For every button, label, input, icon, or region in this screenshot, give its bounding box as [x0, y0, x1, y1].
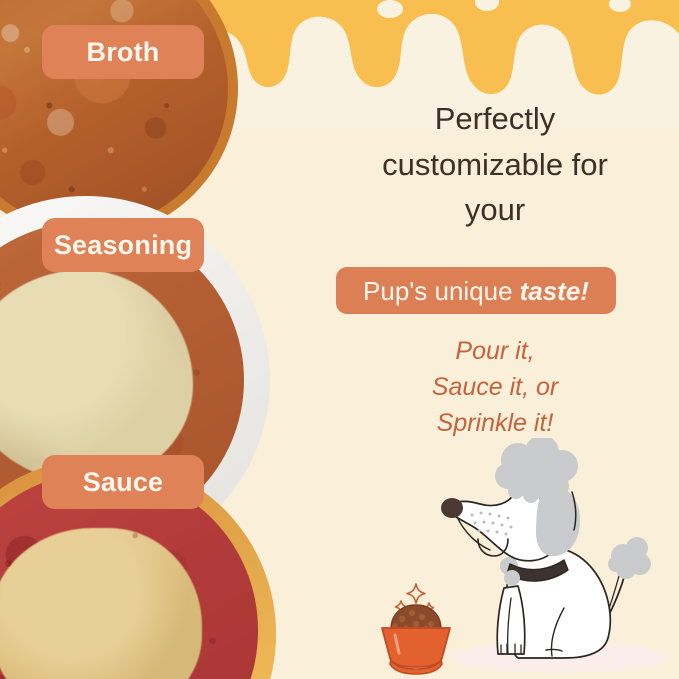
- dog-food-bowl: [382, 584, 450, 674]
- taste-pill-prefix: Pup's unique: [363, 278, 513, 304]
- headline-line-2: customizable for: [340, 142, 650, 188]
- subline-line-3: Sprinkle it!: [355, 405, 635, 441]
- subline-line-2: Sauce it, or: [355, 369, 635, 405]
- taste-pill-emphasis: taste!: [520, 278, 589, 304]
- poodle-dog: [441, 438, 651, 658]
- poodle-illustration: [368, 438, 679, 679]
- poodle-nose-icon: [441, 498, 463, 518]
- label-pill-sauce: Sauce: [42, 455, 204, 509]
- subline: Pour it, Sauce it, or Sprinkle it!: [355, 333, 635, 441]
- poodle-tail-pom: [608, 537, 651, 579]
- subline-line-1: Pour it,: [355, 333, 635, 369]
- headline-line-3: your: [340, 187, 650, 233]
- label-pill-broth: Broth: [42, 25, 204, 79]
- taste-highlight-pill: Pup's unique taste!: [336, 267, 616, 314]
- infographic-canvas: Broth Seasoning Sauce Perfectly customiz…: [0, 0, 679, 679]
- label-pill-seasoning: Seasoning: [42, 218, 204, 272]
- headline-line-1: Perfectly: [340, 96, 650, 142]
- poodle-front-legs: [497, 586, 525, 654]
- headline: Perfectly customizable for your: [340, 96, 650, 233]
- poodle-collar-tuft: [504, 570, 520, 586]
